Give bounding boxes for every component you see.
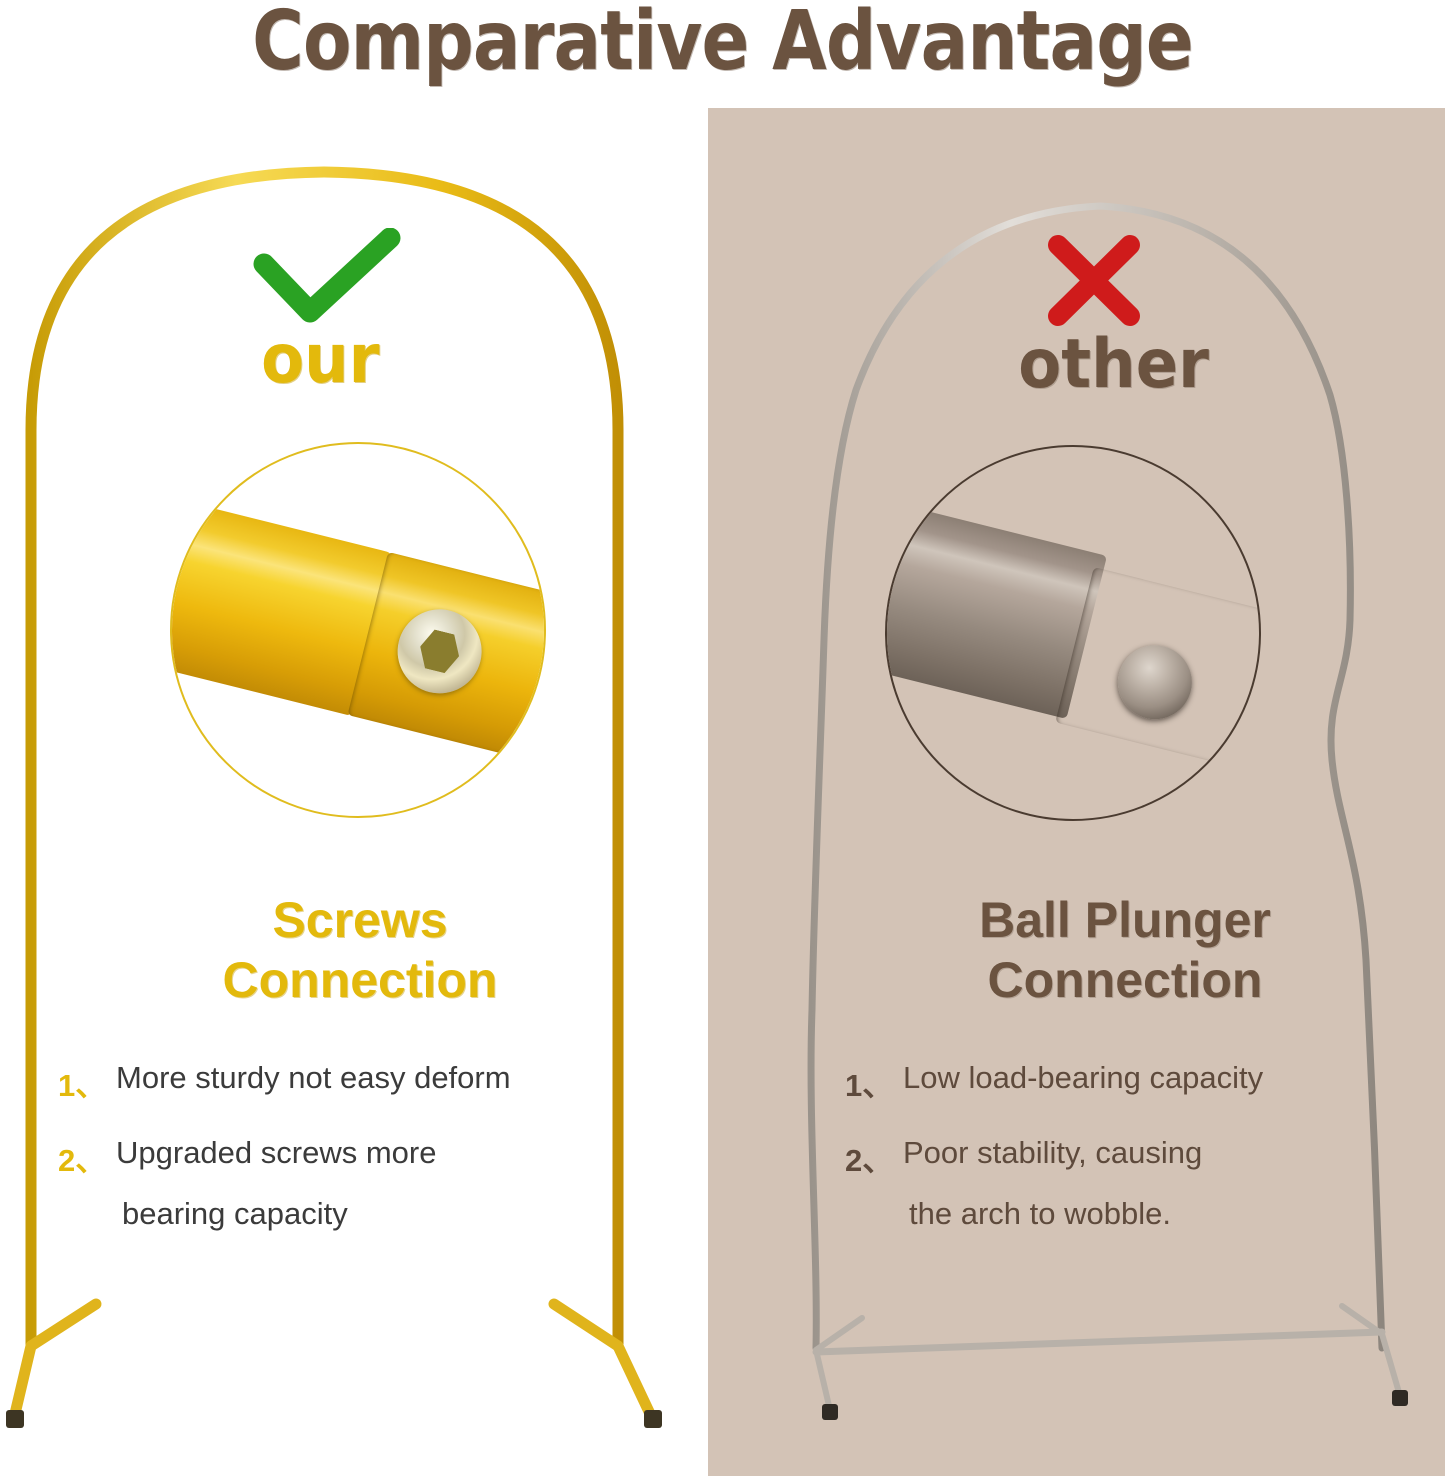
- list-item-continuation: bearing capacity: [122, 1196, 658, 1232]
- page-title: Comparative Advantage: [101, 0, 1344, 89]
- list-item: 2、 Poor stability, causing: [845, 1135, 1385, 1180]
- list-item: 1、 More sturdy not easy deform: [58, 1060, 658, 1105]
- list-item-number: 1、: [58, 1060, 116, 1105]
- ball-plunger-connection-detail-photo: [885, 445, 1261, 821]
- comparison-infographic: Comparative Advantage: [0, 0, 1445, 1476]
- list-item-text: Upgraded screws more: [116, 1135, 658, 1171]
- left-detail-caption: Screws Connection: [100, 890, 620, 1010]
- other-label: other: [1018, 325, 1209, 404]
- right-detail-caption: Ball Plunger Connection: [845, 890, 1405, 1010]
- list-item: 2、 Upgraded screws more: [58, 1135, 658, 1180]
- right-drawbacks-list: 1、 Low load-bearing capacity 2、 Poor sta…: [845, 1060, 1385, 1262]
- screws-connection-detail-photo: [170, 442, 546, 818]
- cross-mark-icon: [1044, 233, 1144, 333]
- list-item-number: 1、: [845, 1060, 903, 1105]
- list-item: 1、 Low load-bearing capacity: [845, 1060, 1385, 1105]
- list-item-text: More sturdy not easy deform: [116, 1060, 658, 1096]
- list-item-text: Poor stability, causing: [903, 1135, 1385, 1171]
- list-item-text: Low load-bearing capacity: [903, 1060, 1385, 1096]
- list-item-number: 2、: [58, 1135, 116, 1180]
- list-item-continuation: the arch to wobble.: [909, 1196, 1385, 1232]
- left-benefits-list: 1、 More sturdy not easy deform 2、 Upgrad…: [58, 1060, 658, 1262]
- list-item-number: 2、: [845, 1135, 903, 1180]
- gray-tube-graphic: [885, 486, 1261, 784]
- check-mark-icon: [252, 228, 402, 333]
- yellow-tube-graphic: [170, 483, 546, 781]
- our-label: our: [261, 320, 379, 399]
